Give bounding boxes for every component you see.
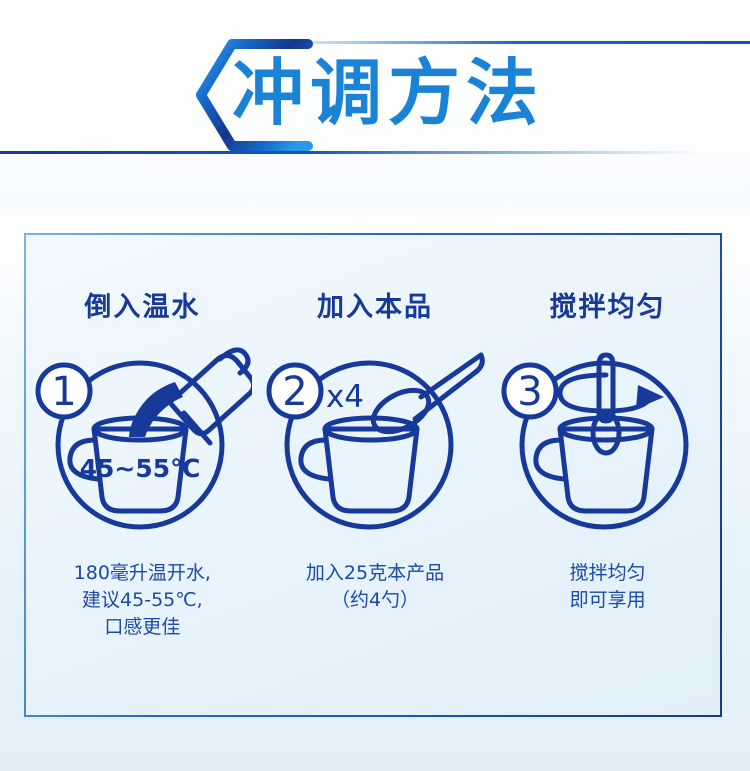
stirring-spoon-in-cup-icon: 3 xyxy=(498,337,718,537)
step-3: 搅拌均匀 xyxy=(491,235,724,719)
step-3-number: 3 xyxy=(517,369,542,415)
steps-container: 倒入温水 xyxy=(26,235,724,719)
step-1: 倒入温水 xyxy=(26,235,259,719)
step-1-number: 1 xyxy=(52,369,77,415)
header-rule-bottom xyxy=(0,151,700,154)
step-2-caption: 加入25克本产品 （约4勺） xyxy=(259,560,492,614)
instructions-panel: 倒入温水 xyxy=(24,233,722,717)
step-2-heading: 加入本品 xyxy=(259,285,492,324)
header-banner: 冲调方法 xyxy=(0,0,750,180)
step-2-caption-line-2: （约4勺） xyxy=(259,587,492,614)
step-1-heading: 倒入温水 xyxy=(26,285,259,324)
step-1-caption: 180毫升温开水, 建议45-55℃, 口感更佳 xyxy=(26,560,259,641)
step-2: 加入本品 xyxy=(259,235,492,719)
step-2-caption-line-1: 加入25克本产品 xyxy=(259,560,492,587)
step-1-caption-line-2: 建议45-55℃, xyxy=(26,587,259,614)
step-3-heading: 搅拌均匀 xyxy=(491,285,724,324)
step-3-caption-line-1: 搅拌均匀 xyxy=(491,560,724,587)
step-3-caption-line-2: 即可享用 xyxy=(491,587,724,614)
kettle-pouring-into-cup-icon: 1 45~55℃ xyxy=(32,337,252,537)
scoops-count-label: x4 xyxy=(326,379,364,415)
step-1-caption-line-1: 180毫升温开水, xyxy=(26,560,259,587)
cup-temperature-label: 45~55℃ xyxy=(80,454,201,483)
step-1-caption-line-3: 口感更佳 xyxy=(26,614,259,641)
step-2-number: 2 xyxy=(282,369,307,415)
page-title-text: 冲调方法 xyxy=(232,57,544,129)
page-title: 冲调方法 xyxy=(232,42,652,144)
step-3-caption: 搅拌均匀 即可享用 xyxy=(491,560,724,614)
spoon-adding-powder-to-cup-icon: 2 x4 xyxy=(265,337,485,537)
